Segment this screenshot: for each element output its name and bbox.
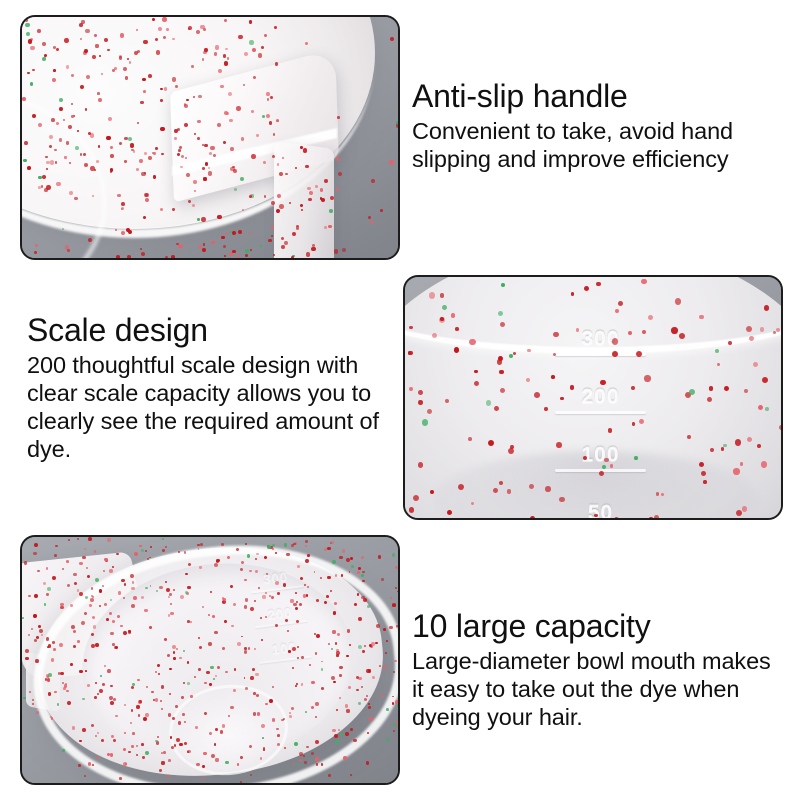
- feature-body-scale-line-3: clearly see the required amount of: [27, 407, 399, 435]
- scale-mark-50: 50: [555, 502, 645, 518]
- bowl-leg: [274, 141, 334, 258]
- feature-body-capacity-line-3: dyeing your hair.: [412, 703, 796, 731]
- feature-body-handle-line-2: slipping and improve efficiency: [412, 145, 792, 173]
- photo-panel-handle-closeup: [20, 15, 400, 260]
- feature-text-large-capacity: 10 large capacity Large-diameter bowl mo…: [412, 608, 796, 731]
- photo-panel-scale-closeup: 300 200 100 50: [403, 275, 783, 520]
- scale-line-100: [555, 469, 645, 472]
- scale-line-300: [555, 353, 645, 356]
- scale-line-200: [555, 411, 645, 414]
- feature-text-scale-design: Scale design 200 thoughtful scale design…: [27, 312, 399, 463]
- feature-body-capacity-line-1: Large-diameter bowl mouth makes: [412, 647, 796, 675]
- feature-body-handle: Convenient to take, avoid hand slipping …: [412, 117, 792, 173]
- feature-body-capacity-line-2: it easy to take out the dye when: [412, 675, 796, 703]
- scale-label-100: 100: [555, 444, 645, 466]
- feature-title-capacity: 10 large capacity: [412, 608, 796, 645]
- photo-panel-bowl-interior: 300 200 100: [20, 535, 400, 785]
- photo-scale-content: 300 200 100 50: [405, 277, 781, 518]
- feature-text-anti-slip-handle: Anti-slip handle Convenient to take, avo…: [412, 78, 792, 173]
- feature-title-scale: Scale design: [27, 312, 399, 349]
- feature-body-scale: 200 thoughtful scale design with clear s…: [27, 351, 399, 463]
- scale-mark-200: 200: [555, 386, 645, 414]
- photo-handle-content: [22, 17, 398, 258]
- feature-body-scale-line-2: clear scale capacity allows you to: [27, 379, 399, 407]
- feature-body-handle-line-1: Convenient to take, avoid hand: [412, 117, 792, 145]
- scale-label-50: 50: [555, 502, 645, 518]
- scale-label-200: 200: [555, 386, 645, 408]
- feature-body-scale-line-1: 200 thoughtful scale design with: [27, 351, 399, 379]
- photo-bowl-content: 300 200 100: [22, 537, 398, 783]
- feature-title-handle: Anti-slip handle: [412, 78, 792, 115]
- faint-scale-mark-200: 200: [253, 604, 308, 629]
- scale-label-300: 300: [555, 328, 645, 350]
- infographic-page: Anti-slip handle Convenient to take, avo…: [0, 0, 800, 800]
- scale-mark-300: 300: [555, 328, 645, 356]
- faint-scale-mark-100: 100: [257, 639, 312, 664]
- scale-mark-100: 100: [555, 444, 645, 472]
- measurement-scale: 300 200 100 50: [555, 328, 645, 518]
- feature-body-scale-line-4: dye.: [27, 435, 399, 463]
- feature-body-capacity: Large-diameter bowl mouth makes it easy …: [412, 647, 796, 731]
